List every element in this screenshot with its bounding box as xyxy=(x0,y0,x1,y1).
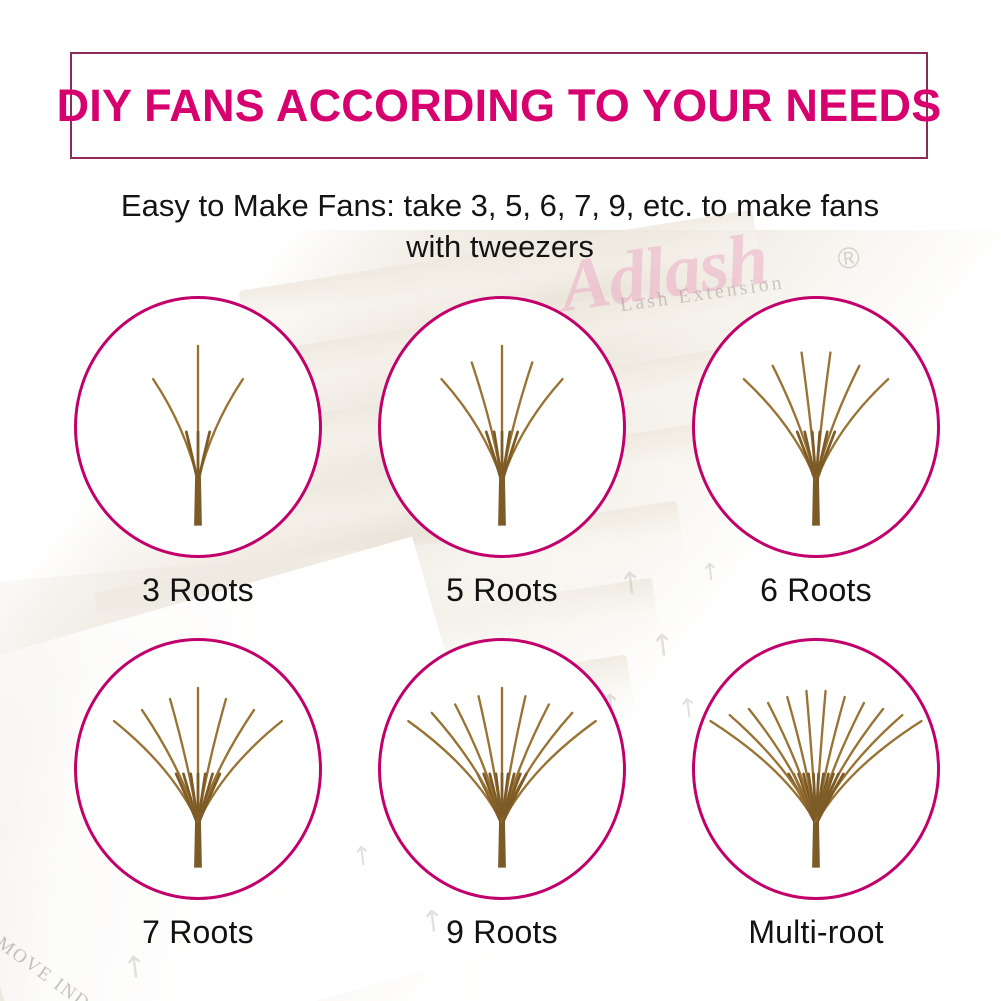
fan-card: 5 Roots xyxy=(366,296,638,609)
lash-fan-icon xyxy=(381,641,623,897)
page-title: DIY FANS ACCORDING TO YOUR NEEDS xyxy=(57,80,942,132)
fan-grid: 3 Roots 5 Roots 6 Roots 7 Roots xyxy=(0,296,1001,980)
headline-box: DIY FANS ACCORDING TO YOUR NEEDS xyxy=(70,52,928,159)
subtitle-line-2: with tweezers xyxy=(406,229,594,264)
lash-fan-icon xyxy=(381,299,623,555)
fan-grid-row: 7 Roots 9 Roots Multi-root xyxy=(0,638,1001,980)
fan-illustration-circle xyxy=(692,638,940,900)
fan-card: Multi-root xyxy=(680,638,952,951)
fan-card: 7 Roots xyxy=(62,638,334,951)
lash-fan-icon xyxy=(77,299,319,555)
fan-label: 9 Roots xyxy=(366,914,638,951)
fan-card: 3 Roots xyxy=(62,296,334,609)
fan-label: 3 Roots xyxy=(62,572,334,609)
product-infographic: ↖ ↖ ↖ ↖ ↖ ↖ ↖ ↖ REMOVE INDIVID Adlash La… xyxy=(0,0,1001,1001)
fan-card: 9 Roots xyxy=(366,638,638,951)
subtitle-line-1: Easy to Make Fans: take 3, 5, 6, 7, 9, e… xyxy=(121,188,879,223)
fan-card: 6 Roots xyxy=(680,296,952,609)
fan-label: 6 Roots xyxy=(680,572,952,609)
fan-label: 5 Roots xyxy=(366,572,638,609)
lash-fan-icon xyxy=(695,641,937,897)
subtitle: Easy to Make Fans: take 3, 5, 6, 7, 9, e… xyxy=(90,186,910,268)
lash-fan-icon xyxy=(695,299,937,555)
fan-illustration-circle xyxy=(692,296,940,558)
fan-illustration-circle xyxy=(74,296,322,558)
fan-illustration-circle xyxy=(378,296,626,558)
fan-illustration-circle xyxy=(378,638,626,900)
fan-illustration-circle xyxy=(74,638,322,900)
fan-grid-row: 3 Roots 5 Roots 6 Roots xyxy=(0,296,1001,638)
lash-fan-icon xyxy=(77,641,319,897)
fan-label: Multi-root xyxy=(680,914,952,951)
fan-label: 7 Roots xyxy=(62,914,334,951)
